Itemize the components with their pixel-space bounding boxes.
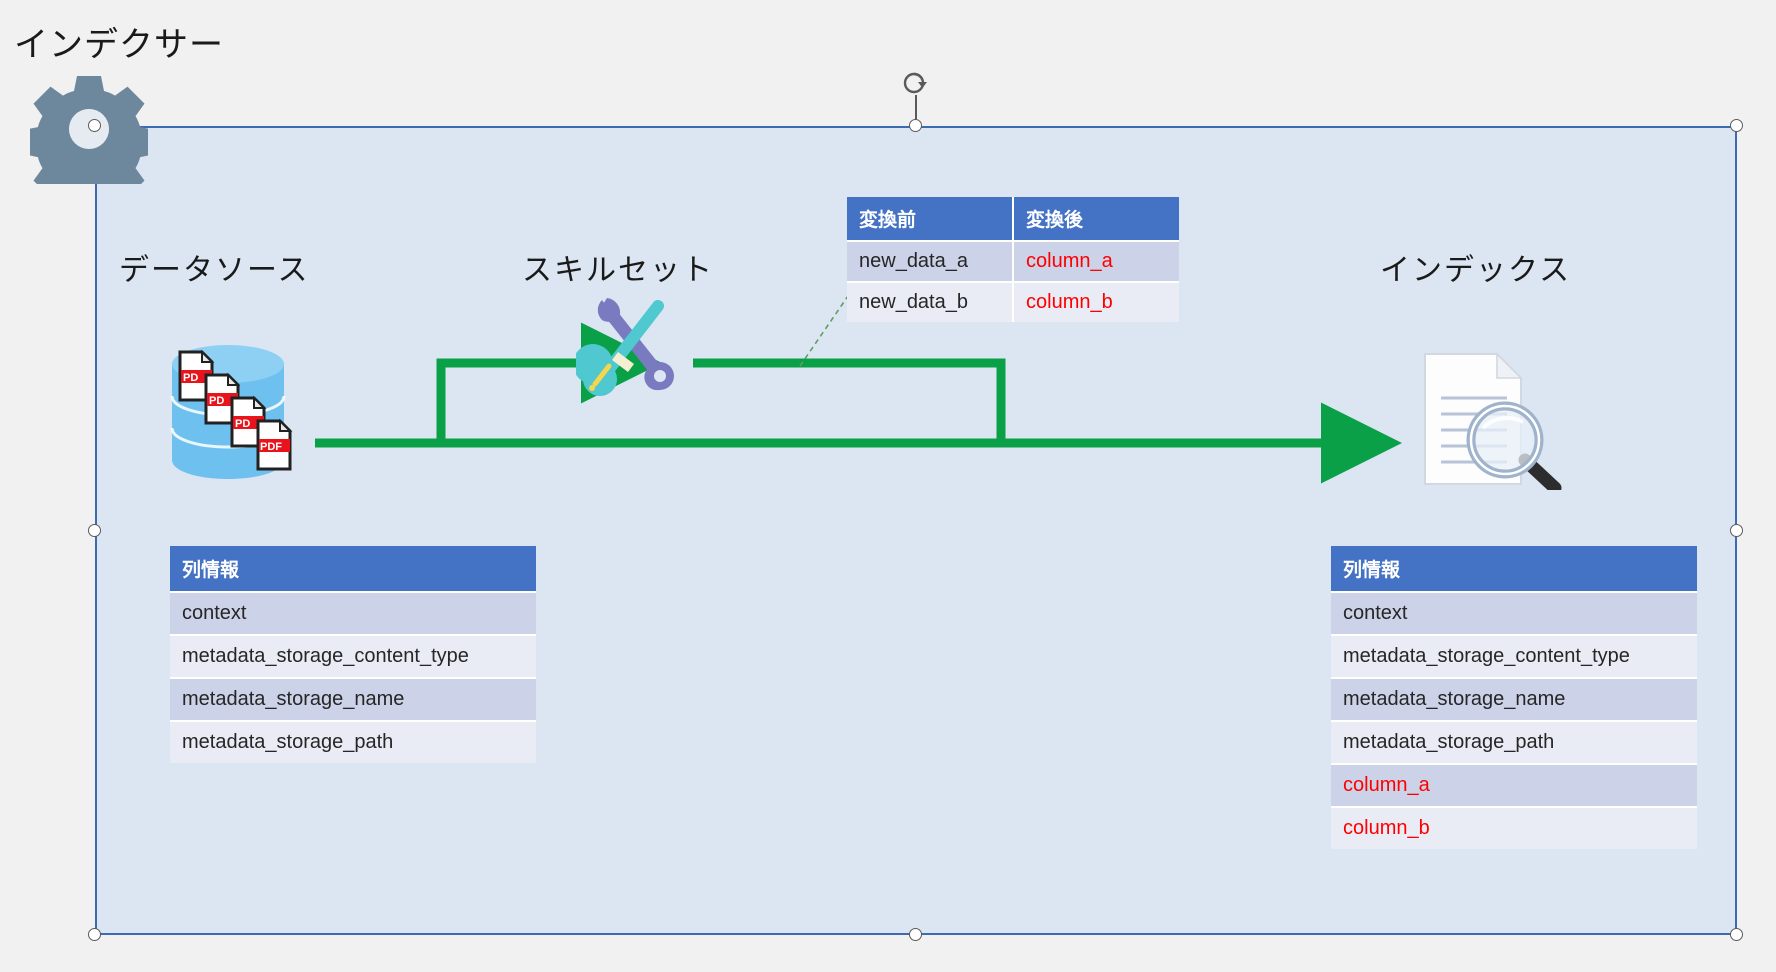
table-row: metadata_storage_path xyxy=(1331,722,1697,763)
slide-canvas: インデクサー データソース スキルセット インデックス xyxy=(0,0,1776,972)
table-row: metadata_storage_name xyxy=(170,679,536,720)
table-row: metadata_storage_name xyxy=(1331,679,1697,720)
table-row: column_a xyxy=(1331,765,1697,806)
svg-text:PD: PD xyxy=(183,372,198,384)
page-title: インデクサー xyxy=(14,17,224,66)
table-row: context xyxy=(1331,593,1697,634)
mapping-cell-after: column_a xyxy=(1014,242,1179,281)
index-table-header: 列情報 xyxy=(1331,546,1697,591)
handle-bottom-center[interactable] xyxy=(909,928,922,941)
source-table-header: 列情報 xyxy=(170,546,536,591)
handle-top-left[interactable] xyxy=(88,119,101,132)
table-row: metadata_storage_content_type xyxy=(170,636,536,677)
table-row: metadata_storage_path xyxy=(170,722,536,763)
handle-top-center[interactable] xyxy=(909,119,922,132)
handle-bottom-left[interactable] xyxy=(88,928,101,941)
data-source-label: データソース xyxy=(119,245,310,289)
wrench-screwdriver-icon xyxy=(576,296,684,404)
table-row: metadata_storage_content_type xyxy=(1331,636,1697,677)
table-row: context xyxy=(170,593,536,634)
rotate-icon[interactable] xyxy=(902,70,928,96)
field-mapping-table[interactable]: 変換前 変換後 new_data_a column_a new_data_b c… xyxy=(847,197,1179,322)
source-column-table[interactable]: 列情報 context metadata_storage_content_typ… xyxy=(170,546,536,763)
index-column-table[interactable]: 列情報 context metadata_storage_content_typ… xyxy=(1331,546,1697,849)
database-pdf-stack-icon: PD PD PD PDF xyxy=(160,342,310,482)
handle-middle-left[interactable] xyxy=(88,524,101,537)
mapping-cell-before: new_data_b xyxy=(847,283,1012,322)
index-label: インデックス xyxy=(1380,245,1571,289)
mapping-cell-after: column_b xyxy=(1014,283,1179,322)
mapping-header-before: 変換前 xyxy=(847,197,1012,240)
handle-top-right[interactable] xyxy=(1730,119,1743,132)
svg-text:PD: PD xyxy=(235,418,250,430)
handle-middle-right[interactable] xyxy=(1730,524,1743,537)
svg-text:PD: PD xyxy=(209,395,224,407)
handle-bottom-right[interactable] xyxy=(1730,928,1743,941)
mapping-header-after: 変換後 xyxy=(1014,197,1179,240)
svg-text:PDF: PDF xyxy=(260,441,282,453)
document-magnifier-icon xyxy=(1415,350,1565,490)
skillset-label: スキルセット xyxy=(522,245,714,289)
table-row: column_b xyxy=(1331,808,1697,849)
mapping-cell-before: new_data_a xyxy=(847,242,1012,281)
